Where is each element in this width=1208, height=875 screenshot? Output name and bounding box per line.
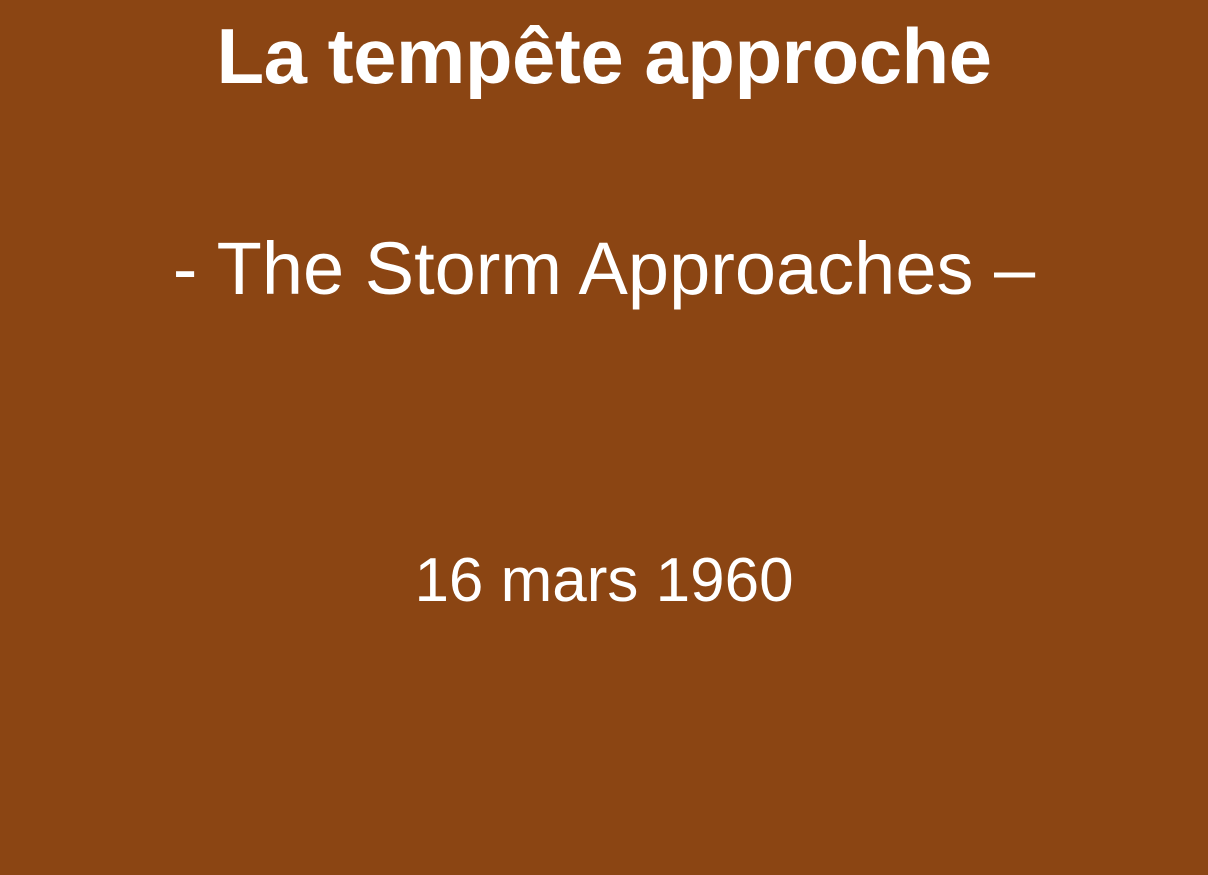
slide-subtitle-block: - The Storm Approaches – <box>0 228 1208 309</box>
slide-date: 16 mars 1960 <box>0 547 1208 615</box>
page-title: La tempête approche <box>0 14 1208 98</box>
presentation-slide: La tempête approche - The Storm Approach… <box>0 0 1208 875</box>
slide-date-block: 16 mars 1960 <box>0 547 1208 615</box>
slide-subtitle: - The Storm Approaches – <box>0 228 1208 309</box>
slide-title-block: La tempête approche <box>0 14 1208 98</box>
